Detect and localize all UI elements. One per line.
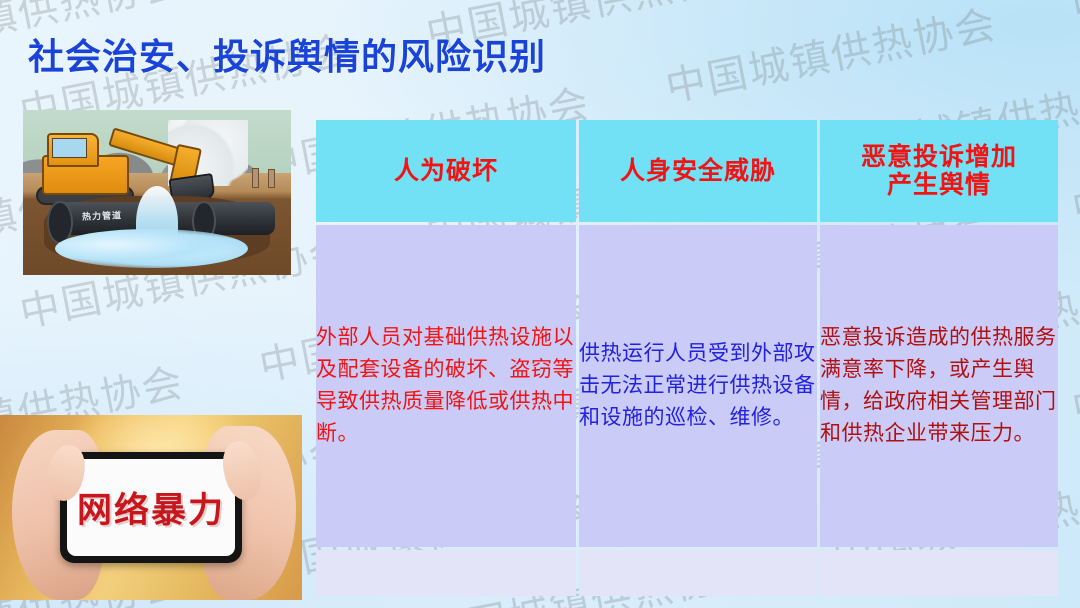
table-cell-malicious-complaints-desc: 恶意投诉造成的供热服务满意率下降，或产生舆情，给政府相关管理部门和供热企业带来压…	[820, 225, 1058, 547]
phone-screen-text: 网络暴力	[77, 482, 225, 533]
watermark-text: 中国城镇供热协会	[1067, 113, 1080, 234]
watermark-text: 中国城镇供热协会	[1067, 313, 1080, 434]
table-cell-empty	[579, 550, 817, 596]
water-splash	[55, 229, 248, 269]
table-header-row: 人为破坏 人身安全威胁 恶意投诉增加产生舆情	[316, 120, 1058, 222]
watermark-text: 中国城镇供热协会	[1067, 0, 1080, 34]
table-row: 外部人员对基础供热设施以及配套设备的破坏、盗窃等导致供热质量降低或供热中断。 供…	[316, 225, 1058, 547]
watermark-text: 中国城镇供热协会	[660, 0, 1001, 113]
excavator-window	[52, 138, 86, 158]
risk-identification-table: 人为破坏 人身安全威胁 恶意投诉增加产生舆情 外部人员对基础供热设施以及配套设备…	[313, 117, 1061, 599]
table-header-malicious-complaints: 恶意投诉增加产生舆情	[820, 120, 1058, 222]
smartphone: 网络暴力	[60, 452, 241, 563]
pipe-label: 热力管道	[82, 208, 122, 222]
table-row	[316, 550, 1058, 596]
cyberviolence-phone-image: 网络暴力	[0, 415, 302, 600]
table-cell-human-damage-desc: 外部人员对基础供热设施以及配套设备的破坏、盗窃等导致供热质量降低或供热中断。	[316, 225, 576, 547]
phone-screen: 网络暴力	[67, 459, 236, 557]
table-header-personal-safety: 人身安全威胁	[579, 120, 817, 222]
table-header-human-damage: 人为破坏	[316, 120, 576, 222]
table-cell-empty	[820, 550, 1058, 596]
excavator-pipe-damage-image: 热力管道	[23, 110, 291, 275]
fence-post-icon	[268, 169, 275, 188]
table-cell-empty	[316, 550, 576, 596]
fence-post-icon	[252, 168, 259, 188]
slide-canvas: 中国城镇供热协会中国城镇供热协会中国城镇供热协会中国城镇供热协会 中国城镇供热协…	[0, 0, 1080, 608]
slide-title: 社会治安、投诉舆情的风险识别	[28, 28, 546, 80]
table-cell-personal-safety-desc: 供热运行人员受到外部攻击无法正常进行供热设备和设施的巡检、维修。	[579, 225, 817, 547]
